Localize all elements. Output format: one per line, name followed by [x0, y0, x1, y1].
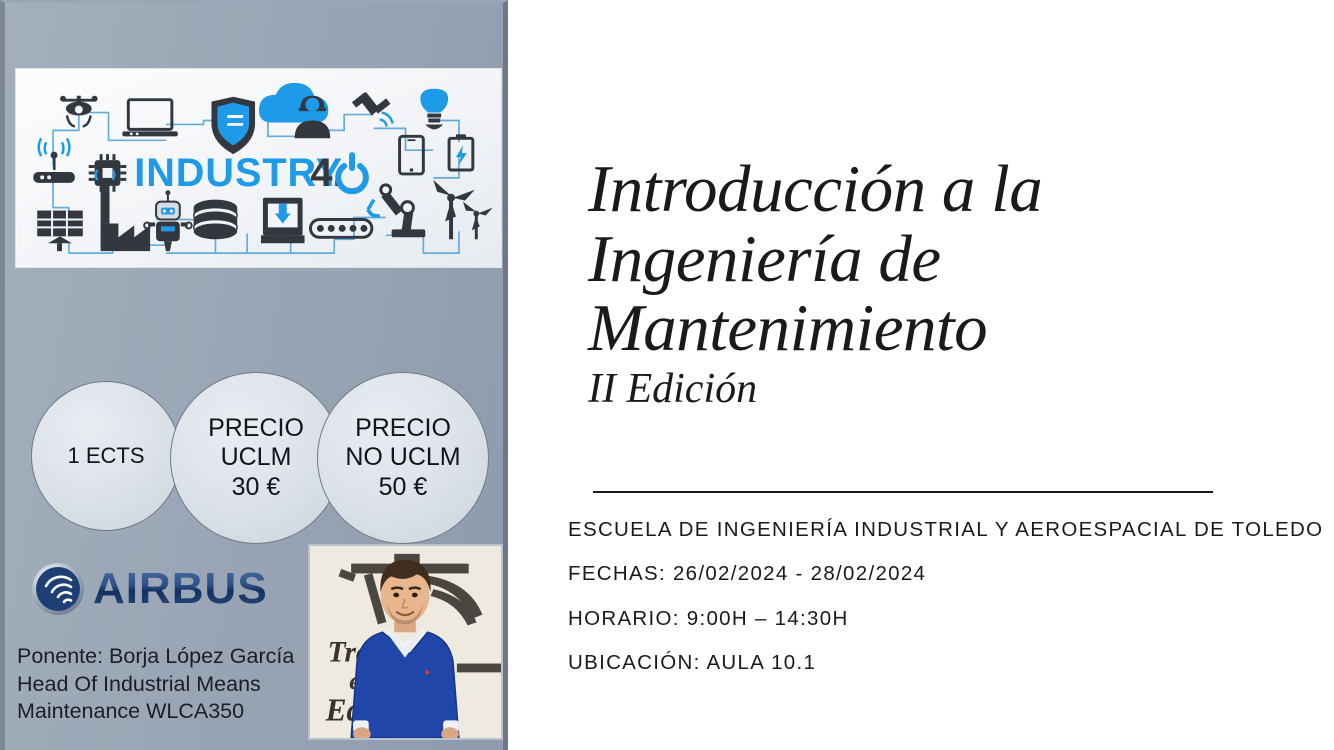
speaker-line-3: Maintenance WLCA350	[17, 698, 317, 726]
machine-icon	[261, 198, 305, 244]
info-circles-group: 1 ECTS PRECIO UCLM 30 € PRECIO NO UCLM 5…	[17, 372, 487, 530]
title-line-1: Introducción a la	[588, 155, 1288, 225]
database-icon	[194, 200, 238, 240]
title-block: Introducción a la Ingeniería de Mantenim…	[588, 155, 1288, 412]
circle-uclm-line-1: PRECIO	[208, 414, 304, 444]
circle-uclm-line-2: UCLM	[221, 443, 292, 473]
circle-no-uclm-line-3: 50 €	[379, 473, 428, 503]
speaker-line-1: Ponente: Borja López García	[17, 643, 317, 671]
airbus-wordmark: AIRBUS	[93, 567, 268, 611]
speaker-photo-svg: Traba en Equi	[310, 546, 501, 738]
speaker-info: Ponente: Borja López García Head Of Indu…	[17, 643, 317, 726]
event-details: ESCUELA DE INGENIERÍA INDUSTRIAL Y AEROE…	[568, 516, 1328, 677]
speaker-line-2: Head Of Industrial Means	[17, 671, 317, 699]
title-line-3: Mantenimiento	[588, 294, 1288, 364]
circle-ects: 1 ECTS	[31, 381, 181, 531]
circle-precio-no-uclm: PRECIO NO UCLM 50 €	[317, 372, 489, 544]
industry-4-0-banner-image: INDUSTRY 4.	[15, 68, 502, 268]
horizontal-divider	[593, 491, 1213, 493]
circle-no-uclm-line-1: PRECIO	[355, 414, 451, 444]
detail-venue: ESCUELA DE INGENIERÍA INDUSTRIAL Y AEROE…	[568, 516, 1328, 543]
circle-no-uclm-line-2: NO UCLM	[345, 443, 460, 473]
circle-uclm-line-3: 30 €	[232, 473, 281, 503]
detail-schedule: HORARIO: 9:00H – 14:30H	[568, 605, 1328, 632]
speaker-photo: Traba en Equi	[308, 544, 503, 740]
left-panel: INDUSTRY 4.	[0, 0, 508, 750]
airbus-logo: AIRBUS	[31, 561, 286, 617]
detail-location: UBICACIÓN: AULA 10.1	[568, 649, 1328, 676]
title-line-2: Ingeniería de	[588, 225, 1288, 295]
right-panel: Introducción a la Ingeniería de Mantenim…	[508, 0, 1334, 750]
title-edition: II Edición	[588, 366, 1288, 412]
circle-ects-line-1: 1 ECTS	[67, 443, 144, 469]
detail-dates: FECHAS: 26/02/2024 - 28/02/2024	[568, 560, 1328, 587]
poster-root: INDUSTRY 4.	[0, 0, 1334, 750]
industry-banner-svg: INDUSTRY 4.	[16, 69, 501, 267]
airbus-spiral-icon	[31, 562, 85, 616]
